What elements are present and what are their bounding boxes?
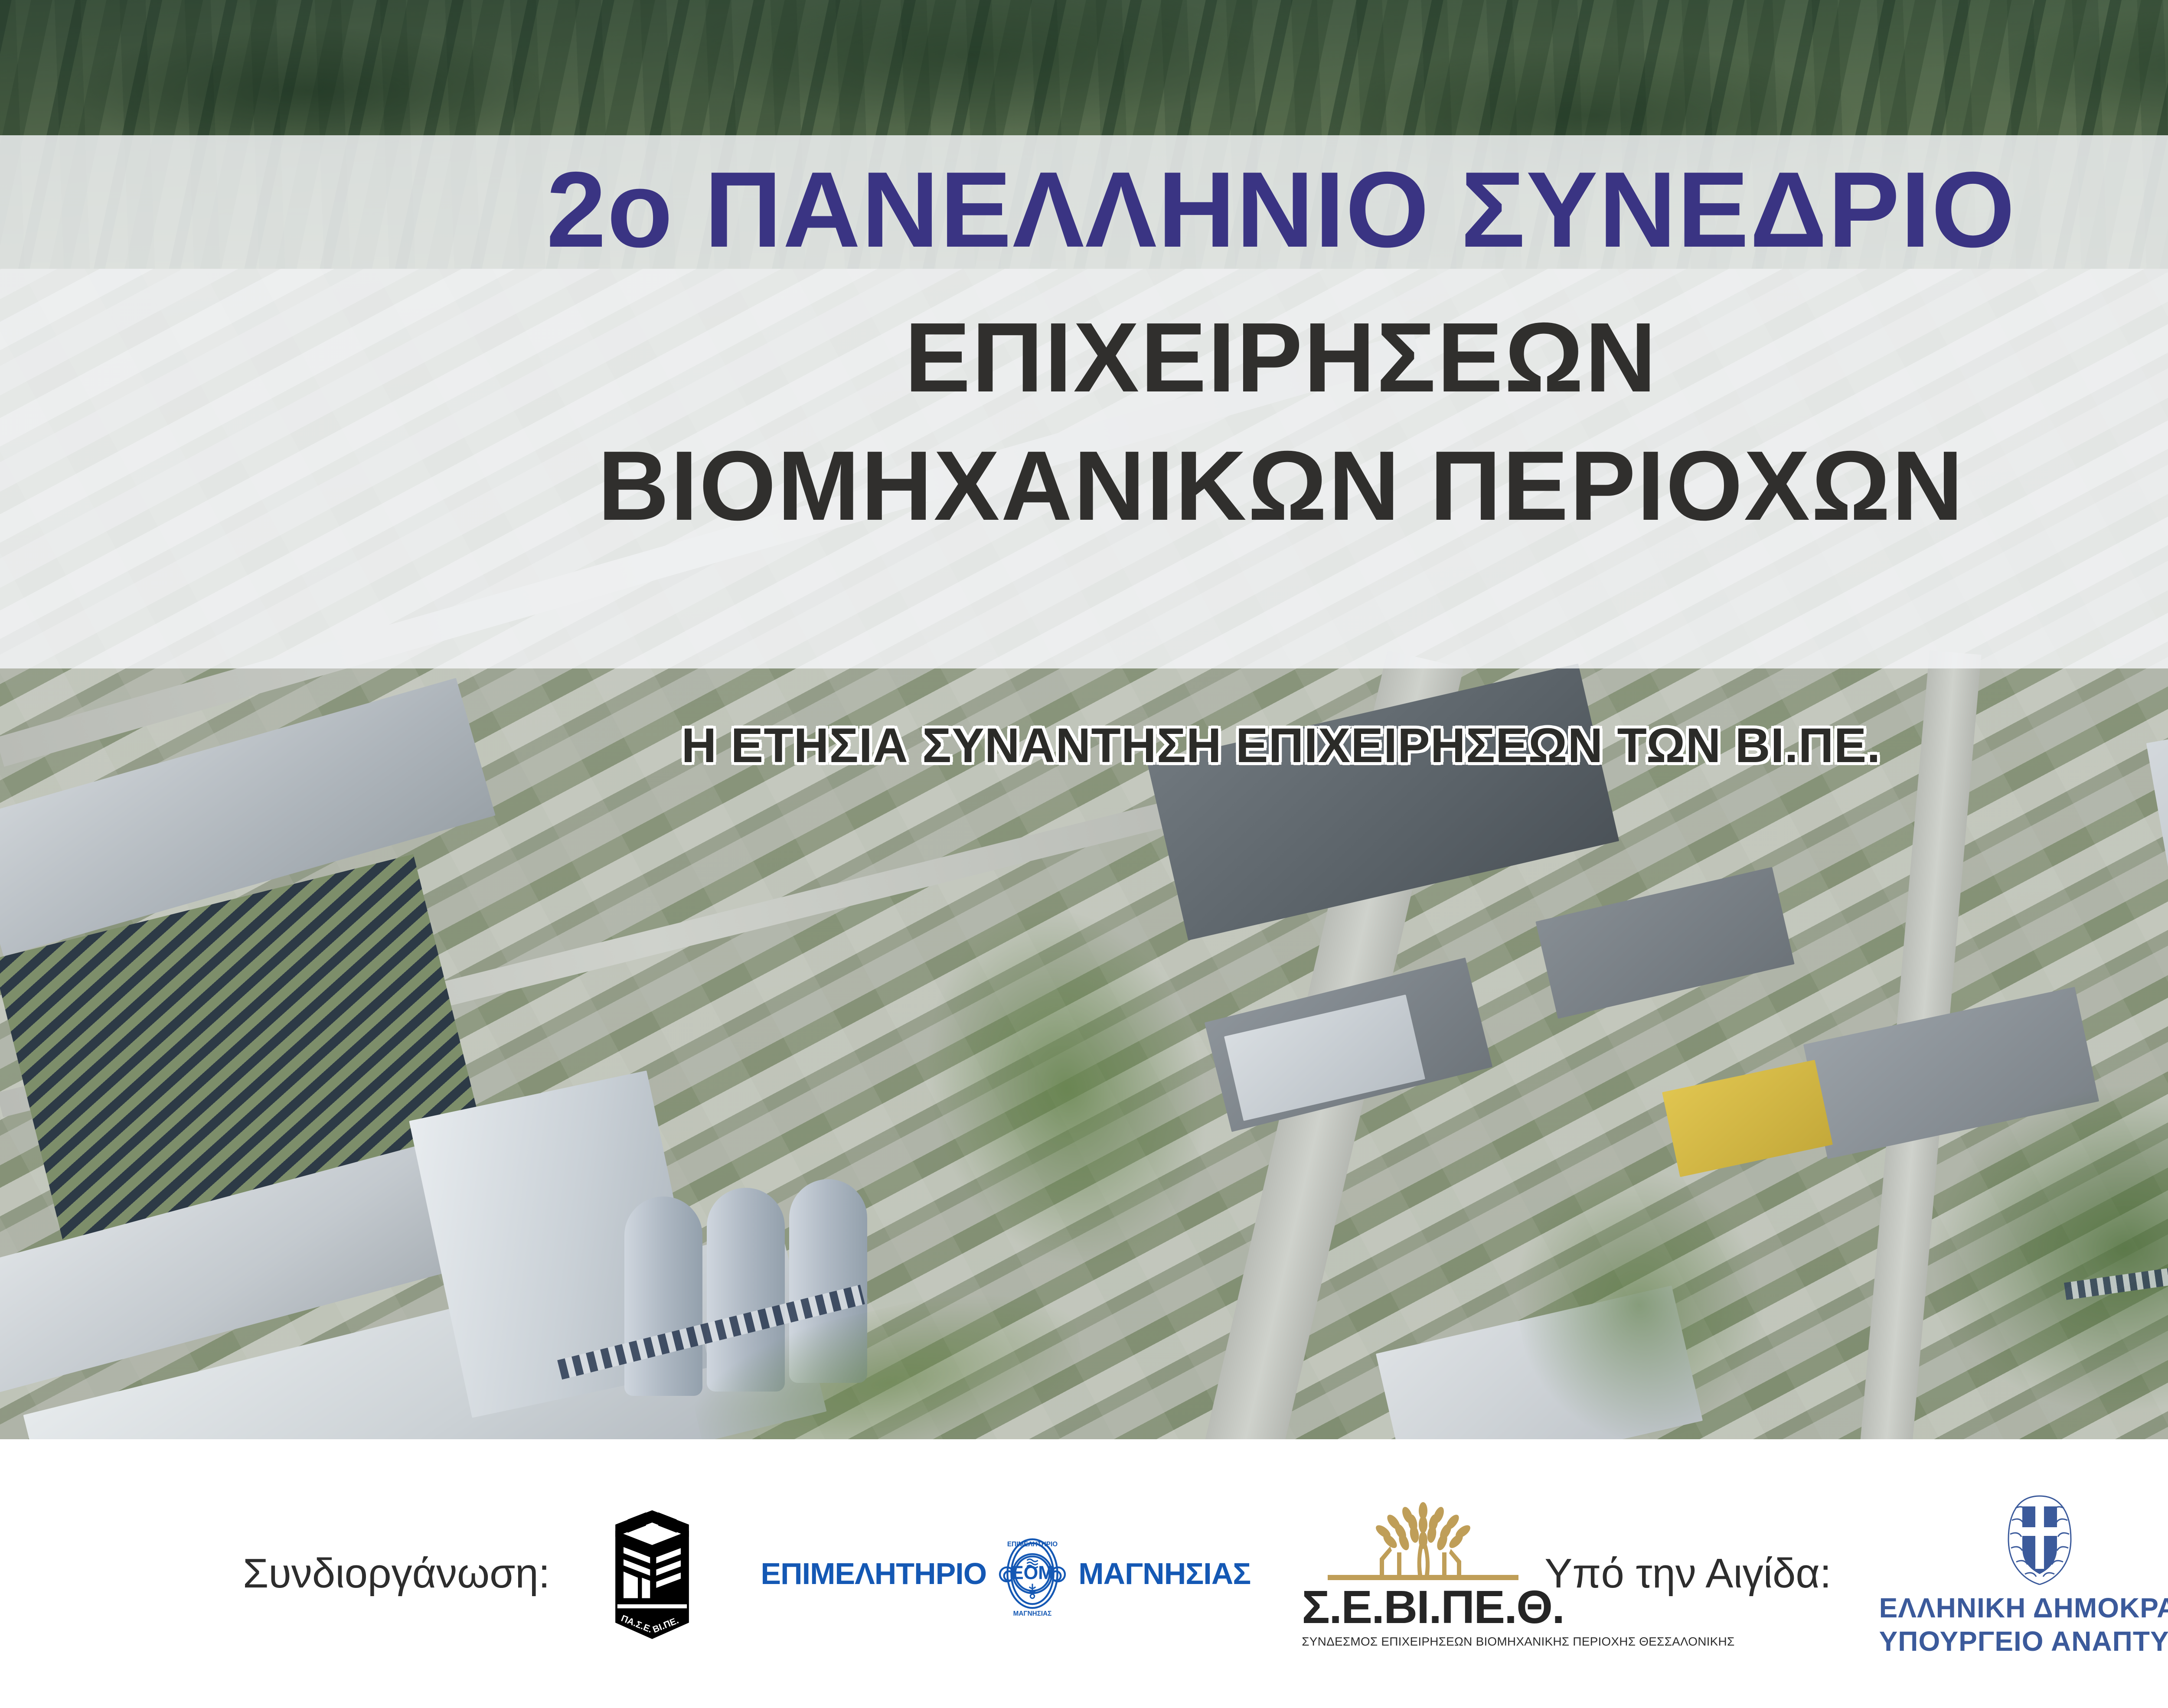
poster-tagline: Η ΕΤΗΣΙΑ ΣΥΝΑΝΤΗΣΗ ΕΠΙΧΕΙΡΗΣΕΩΝ ΤΩΝ ΒΙ.Π…	[0, 717, 2168, 773]
sevipeth-subtitle: ΣΥΝΔΕΣΜΟΣ ΕΠΙΧΕΙΡΗΣΕΩΝ ΒΙΟΜΗΧΑΝΙΚΗΣ ΠΕΡΙ…	[1302, 1635, 1544, 1649]
hellenic-republic-line1: ΕΛΛΗΝΙΚΗ ΔΗΜΟΚΡΑΤΙΑ	[1879, 1591, 2168, 1625]
svg-text:ΕΠΙΜΕΛΗΤΗΡΙΟ: ΕΠΙΜΕΛΗΤΗΡΙΟ	[1007, 1541, 1058, 1548]
page-title-line1: 2ο ΠΑΝΕΛΛΗΝΙΟ ΣΥΝΕΔΡΙΟ	[546, 152, 2016, 268]
sevipeth-logo[interactable]: Σ.Ε.ΒΙ.ΠΕ.Θ. ΣΥΝΔΕΣΜΟΣ ΕΠΙΧΕΙΡΗΣΕΩΝ ΒΙΟΜ…	[1302, 1499, 1544, 1649]
sevipeth-gold-tree-icon	[1310, 1499, 1536, 1585]
page-title-line3: ΒΙΟΜΗΧΑΝΙΚΩΝ ΠΕΡΙΟΧΩΝ	[598, 430, 1964, 543]
title-block: 2ο ΠΑΝΕΛΛΗΝΙΟ ΣΥΝΕΔΡΙΟ ΕΠΙΧΕΙΡΗΣΕΩΝ ΒΙΟΜ…	[0, 135, 2168, 668]
vegetation-patch	[1908, 1058, 2168, 1439]
conference-poster: 2ο ΠΑΝΕΛΛΗΝΙΟ ΣΥΝΕΔΡΙΟ ΕΠΙΧΕΙΡΗΣΕΩΝ ΒΙΟΜ…	[0, 0, 2168, 1708]
auspices-group: Υπό την Αιγίδα:	[1544, 1484, 2168, 1663]
greek-coat-of-arms-icon	[1996, 1489, 2083, 1589]
epimelitirio-magnisias-logo[interactable]: ΕΠΙΜΕΛΗΤΗΡΙΟ ΕΠΙΜΕΛΗΤΗΡΙΟ	[761, 1526, 1251, 1621]
pasevipe-logo[interactable]: ΠΑ.Σ.Ε. ΒΙ.ΠΕ.	[587, 1502, 717, 1645]
eom-oval-seal-icon: ΕΠΙΜΕΛΗΤΗΡΙΟ ΜΑΓΝΗΣΙΑΣ ΕΟΜ	[993, 1526, 1071, 1621]
emag-text-right: ΜΑΓΝΗΣΙΑΣ	[1078, 1556, 1251, 1591]
pasevipe-3d-block-icon: ΠΑ.Σ.Ε. ΒΙ.ΠΕ.	[587, 1502, 717, 1645]
footer-bar: Συνδιοργάνωση:	[0, 1439, 2168, 1708]
coorganizers-label: Συνδιοργάνωση:	[243, 1550, 550, 1597]
hellenic-republic-logo[interactable]: ΕΛΛΗΝΙΚΗ ΔΗΜΟΚΡΑΤΙΑ ΥΠΟΥΡΓΕΙΟ ΑΝΑΠΤΥΞΗΣ	[1879, 1489, 2168, 1658]
auspices-label: Υπό την Αιγίδα:	[1544, 1550, 1831, 1597]
svg-text:ΜΑΓΝΗΣΙΑΣ: ΜΑΓΝΗΣΙΑΣ	[1013, 1610, 1052, 1617]
emag-text-left: ΕΠΙΜΕΛΗΤΗΡΙΟ	[761, 1556, 986, 1591]
coorganizers-group: Συνδιοργάνωση:	[0, 1499, 1544, 1649]
page-title-line2: ΕΠΙΧΕΙΡΗΣΕΩΝ	[904, 302, 1658, 414]
sevipeth-acronym: Σ.Ε.ΒΙ.ΠΕ.Θ.	[1302, 1584, 1544, 1630]
svg-text:ΕΟΜ: ΕΟΜ	[1011, 1563, 1054, 1584]
hellenic-republic-line2: ΥΠΟΥΡΓΕΙΟ ΑΝΑΠΤΥΞΗΣ	[1879, 1625, 2168, 1658]
